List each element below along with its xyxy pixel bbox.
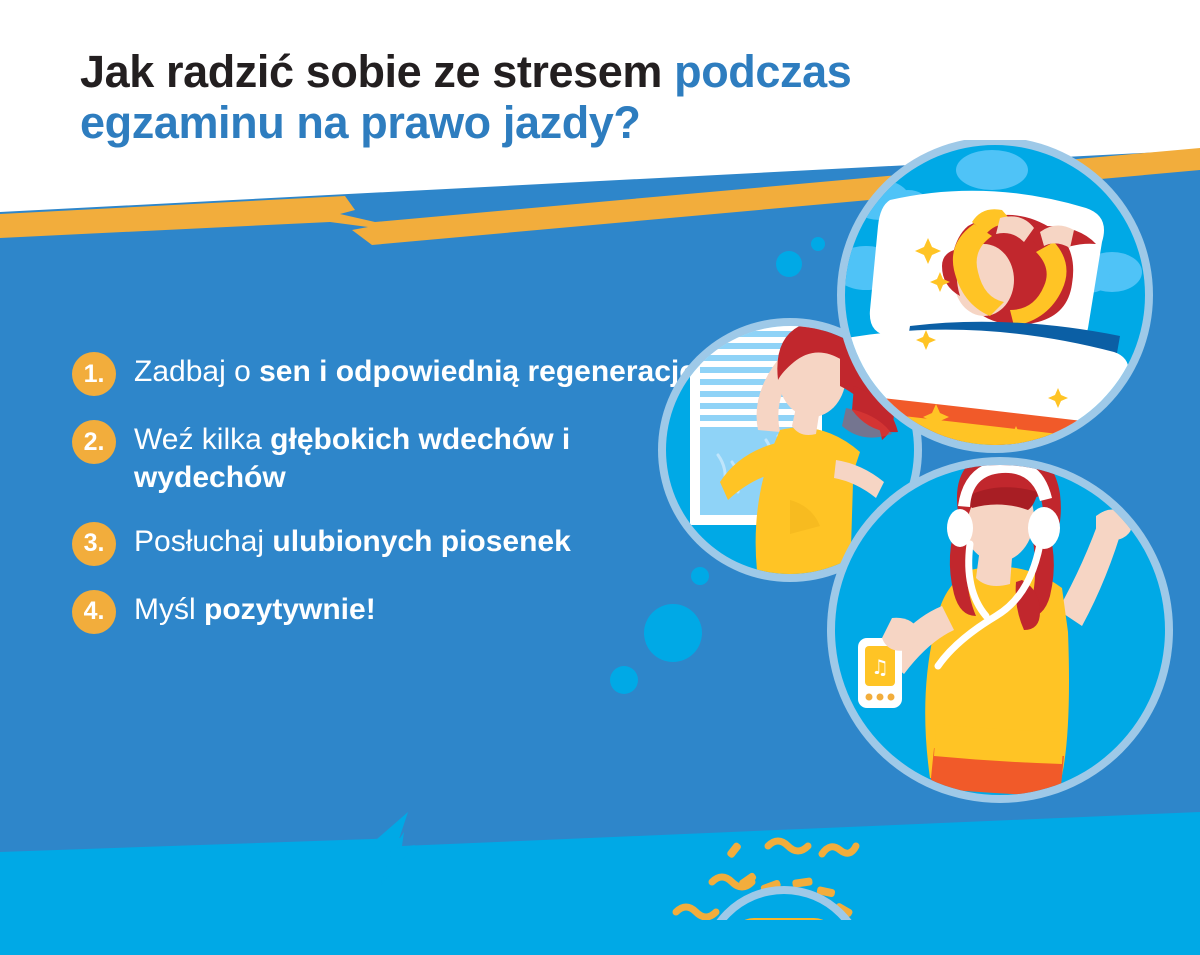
list-item-text-bold: ulubionych piosenek [272,525,570,558]
svg-text:♫: ♫ [871,655,889,679]
list-item: 1. Zadbaj o sen i odpowiednią regeneracj… [72,350,712,396]
list-item: 4. Myśl pozytywnie! [72,588,712,634]
headphone-cup [1028,507,1060,549]
list-item-number: 3. [72,522,116,566]
list-item-text: Weź kilka głębokich wdechów i wydechów [134,418,712,498]
list-item-text: Zadbaj o sen i odpowiednią regenerację [134,350,696,391]
list-item-number: 1. [72,352,116,396]
list-item: 2. Weź kilka głębokich wdechów i wydechó… [72,418,712,498]
list-item-text-bold: sen i odpowiednią regenerację [259,355,696,388]
list-item-text-plain: Zadbaj o [134,355,259,388]
list-item-text-plain: Myśl [134,593,204,626]
illustration-group: ♫ [640,140,1200,920]
check-badge-group [676,841,868,920]
list-item-text-bold: pozytywnie! [204,593,376,626]
decor-dot [610,666,638,694]
list-item: 3. Posłuchaj ulubionych piosenek [72,520,712,566]
list-item-number: 2. [72,420,116,464]
list-item-text: Myśl pozytywnie! [134,588,376,629]
tips-list: 1. Zadbaj o sen i odpowiednią regeneracj… [72,350,712,656]
list-item-number: 4. [72,590,116,634]
list-item-text-plain: Posłuchaj [134,525,272,558]
list-item-text-plain: Weź kilka [134,423,270,456]
infographic-canvas: Jak radzić sobie ze stresem podczas egza… [0,0,1200,955]
list-item-text: Posłuchaj ulubionych piosenek [134,520,571,561]
